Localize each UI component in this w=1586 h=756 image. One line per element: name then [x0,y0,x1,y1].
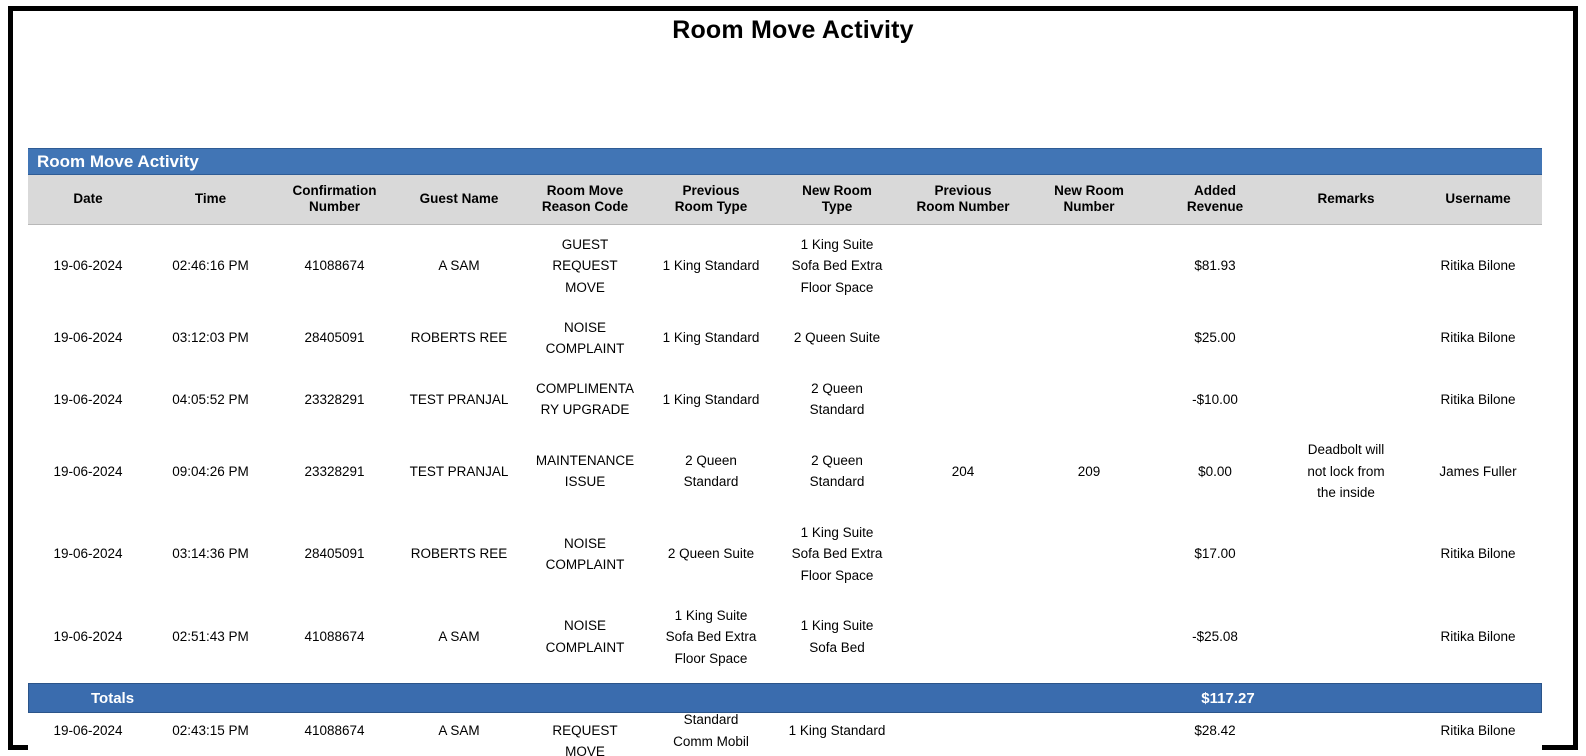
cell-username: Ritika Bilone [1414,224,1542,307]
column-header-room-move-reason-code[interactable]: Room Move Reason Code [522,175,648,224]
cell-new-room-type: 2 Queen Standard [774,369,900,430]
column-header-remarks[interactable]: Remarks [1278,175,1414,224]
cell-remarks [1278,369,1414,430]
cell-confirmation-number: 41088674 [273,596,396,679]
cell-guest-name: A SAM [396,224,522,307]
cell-reason-code: MAINTENANCE ISSUE [522,430,648,513]
cell-time: 02:51:43 PM [148,596,273,679]
column-header-added-revenue[interactable]: Added Revenue [1152,175,1278,224]
cell-added-revenue: -$10.00 [1152,369,1278,430]
column-header-time[interactable]: Time [148,175,273,224]
cell-reason-code: GUEST REQUEST MOVE [522,224,648,307]
column-header-confirmation-number[interactable]: Confirmation Number [273,175,396,224]
section-header-bar: Room Move Activity [28,148,1542,175]
cell-new-room-type: 2 Queen Suite [774,308,900,369]
cell-username: James Fuller [1414,430,1542,513]
cell-confirmation-number: 28405091 [273,513,396,596]
report-section: Room Move Activity Date Time Confirmatio… [28,148,1542,756]
cell-added-revenue: $0.00 [1152,430,1278,513]
column-header-previous-room-number[interactable]: Previous Room Number [900,175,1026,224]
cell-new-room-number [1026,369,1152,430]
cell-date: 19-06-2024 [28,308,148,369]
cell-previous-room-number [900,596,1026,679]
room-move-activity-table: Date Time Confirmation Number Guest Name… [28,175,1542,756]
cell-previous-room-type: 1 King Standard [648,369,774,430]
cell-guest-name: TEST PRANJAL [396,369,522,430]
cell-date: 19-06-2024 [28,369,148,430]
cell-confirmation-number: 28405091 [273,308,396,369]
cell-date: 19-06-2024 [28,513,148,596]
cell-new-room-type: 2 Queen Standard [774,430,900,513]
cell-reason-code: NOISE COMPLAINT [522,596,648,679]
table-body: 19-06-2024 02:46:16 PM 41088674 A SAM GU… [28,224,1542,756]
cell-previous-room-number [900,369,1026,430]
cell-confirmation-number: 23328291 [273,430,396,513]
cell-remarks [1278,513,1414,596]
totals-label: Totals [91,684,134,714]
cell-remarks: Deadbolt will not lock from the inside [1278,430,1414,513]
cell-previous-room-number [900,308,1026,369]
cell-time: 02:46:16 PM [148,224,273,307]
column-header-previous-room-type[interactable]: Previous Room Type [648,175,774,224]
cell-remarks [1278,596,1414,679]
column-header-username[interactable]: Username [1414,175,1542,224]
cell-previous-room-type: 1 King Standard [648,308,774,369]
cell-previous-room-type: 1 King Standard [648,224,774,307]
cell-new-room-number: 209 [1026,430,1152,513]
section-title: Room Move Activity [28,152,199,172]
cell-previous-room-number [900,513,1026,596]
table-row[interactable]: 19-06-2024 02:46:16 PM 41088674 A SAM GU… [28,224,1542,307]
cell-added-revenue: $25.00 [1152,308,1278,369]
cell-previous-room-type: 1 King Suite Sofa Bed Extra Floor Space [648,596,774,679]
cell-guest-name: ROBERTS REE [396,308,522,369]
totals-row: Totals $117.27 [28,683,1542,713]
table-row[interactable]: 19-06-2024 04:05:52 PM 23328291 TEST PRA… [28,369,1542,430]
cell-new-room-number [1026,596,1152,679]
cell-time: 04:05:52 PM [148,369,273,430]
cell-previous-room-number [900,224,1026,307]
cell-added-revenue: -$25.08 [1152,596,1278,679]
table-row[interactable]: 19-06-2024 03:12:03 PM 28405091 ROBERTS … [28,308,1542,369]
column-header-date[interactable]: Date [28,175,148,224]
cell-new-room-type: 1 King Suite Sofa Bed Extra Floor Space [774,224,900,307]
cell-guest-name: ROBERTS REE [396,513,522,596]
cell-previous-room-number: 204 [900,430,1026,513]
cell-new-room-type: 1 King Suite Sofa Bed [774,596,900,679]
cell-username: Ritika Bilone [1414,308,1542,369]
cell-new-room-type: 1 King Suite Sofa Bed Extra Floor Space [774,513,900,596]
cell-username: Ritika Bilone [1414,369,1542,430]
totals-added-revenue: $117.27 [1165,684,1291,714]
table-row[interactable]: 19-06-2024 02:51:43 PM 41088674 A SAM NO… [28,596,1542,679]
cell-previous-room-type: 2 Queen Standard [648,430,774,513]
table-row[interactable]: 19-06-2024 09:04:26 PM 23328291 TEST PRA… [28,430,1542,513]
cell-date: 19-06-2024 [28,596,148,679]
cell-new-room-number [1026,308,1152,369]
cell-confirmation-number: 41088674 [273,224,396,307]
column-header-guest-name[interactable]: Guest Name [396,175,522,224]
cell-confirmation-number: 23328291 [273,369,396,430]
cell-date: 19-06-2024 [28,430,148,513]
cell-new-room-number [1026,224,1152,307]
cell-remarks [1278,224,1414,307]
cell-username: Ritika Bilone [1414,596,1542,679]
cell-new-room-number [1026,513,1152,596]
cell-date: 19-06-2024 [28,224,148,307]
cell-time: 03:12:03 PM [148,308,273,369]
column-header-new-room-number[interactable]: New Room Number [1026,175,1152,224]
cell-added-revenue: $17.00 [1152,513,1278,596]
column-header-new-room-type[interactable]: New Room Type [774,175,900,224]
cell-reason-code: NOISE COMPLAINT [522,308,648,369]
cell-reason-code: COMPLIMENTA RY UPGRADE [522,369,648,430]
cell-guest-name: A SAM [396,596,522,679]
cell-time: 03:14:36 PM [148,513,273,596]
table-row[interactable]: 19-06-2024 03:14:36 PM 28405091 ROBERTS … [28,513,1542,596]
cell-previous-room-type: 2 Queen Suite [648,513,774,596]
cell-username: Ritika Bilone [1414,513,1542,596]
cell-time: 09:04:26 PM [148,430,273,513]
table-header-row: Date Time Confirmation Number Guest Name… [28,175,1542,224]
cell-remarks [1278,308,1414,369]
page-title: Room Move Activity [0,16,1586,45]
cell-added-revenue: $81.93 [1152,224,1278,307]
cell-reason-code: NOISE COMPLAINT [522,513,648,596]
cell-guest-name: TEST PRANJAL [396,430,522,513]
report-page: Room Move Activity Room Move Activity Da… [0,0,1586,756]
